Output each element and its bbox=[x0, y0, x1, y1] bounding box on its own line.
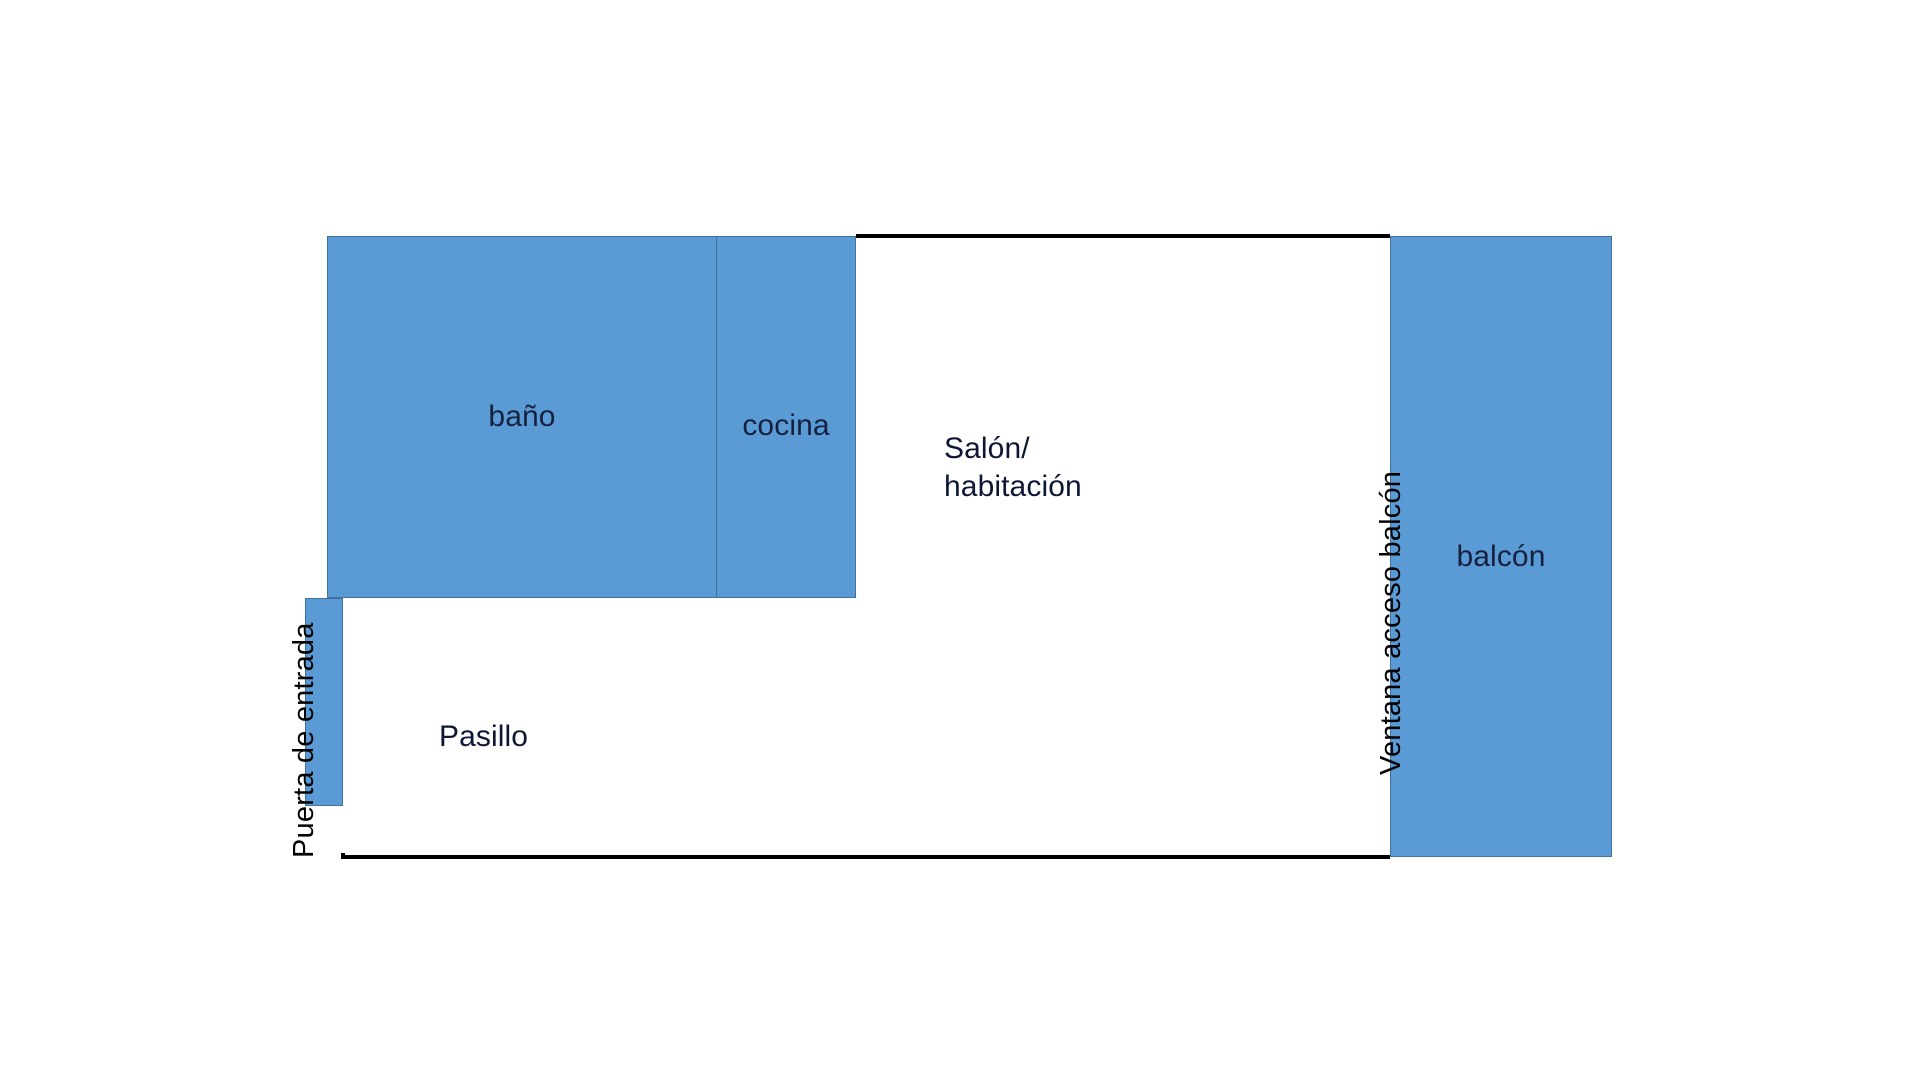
annotation-ventana-acceso-balcon: Ventana acceso balcón bbox=[1375, 471, 1408, 775]
room-balcon[interactable]: balcón bbox=[1390, 236, 1612, 857]
room-label-pasillo: Pasillo bbox=[439, 718, 528, 756]
room-label-balcon: balcón bbox=[1456, 538, 1545, 576]
room-cocina[interactable]: cocina bbox=[716, 236, 856, 598]
room-label-salon-habitacion: Salón/ habitación bbox=[944, 430, 1082, 507]
room-pasillo[interactable]: Pasillo bbox=[331, 600, 854, 853]
room-label-bano: baño bbox=[488, 398, 555, 436]
wall-top-salon bbox=[856, 234, 1390, 238]
floor-plan-diagram: baño cocina Salón/ habitación Pasillo ba… bbox=[0, 0, 1920, 1080]
room-salon-habitacion[interactable]: Salón/ habitación bbox=[860, 240, 1386, 853]
annotation-puerta-de-entrada: Puerta de entrada bbox=[288, 622, 321, 858]
room-bano[interactable]: baño bbox=[327, 236, 717, 598]
room-label-cocina: cocina bbox=[742, 407, 829, 445]
wall-bottom bbox=[343, 855, 1390, 859]
